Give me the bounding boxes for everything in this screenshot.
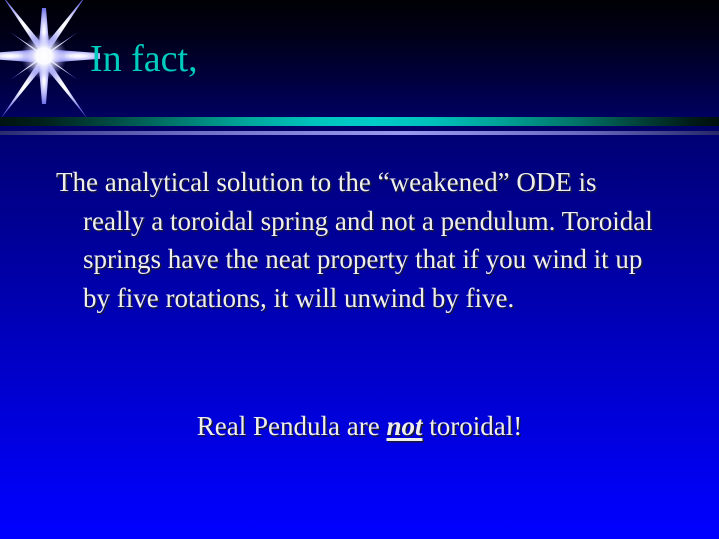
slide-title: In fact,	[90, 36, 198, 82]
closing-after-text: toroidal!	[422, 411, 522, 441]
body-paragraph: The analytical solution to the “weakened…	[56, 163, 656, 317]
teal-divider-bar	[0, 117, 719, 126]
closing-before-text: Real Pendula are	[197, 411, 387, 441]
slide: In fact, The analytical solution to the …	[0, 0, 719, 539]
closing-statement: Real Pendula are not toroidal!	[0, 408, 719, 444]
slide-body: The analytical solution to the “weakened…	[56, 163, 656, 317]
body-paragraph-text: The analytical solution to the “weakened…	[56, 167, 653, 313]
closing-emphasis-not: not	[386, 411, 422, 441]
